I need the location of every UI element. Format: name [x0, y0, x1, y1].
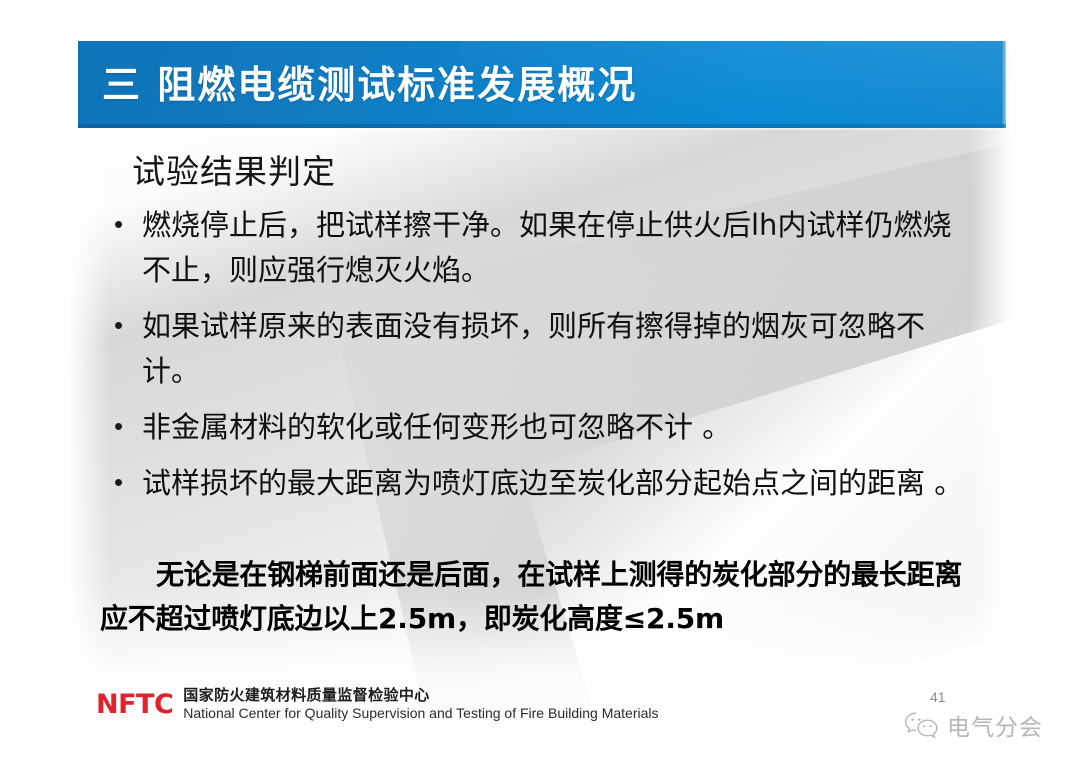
slide-title-banner: 三 阻燃电缆测试标准发展概况	[78, 41, 1006, 128]
list-item: • 非金属材料的软化或任何变形也可忽略不计 。	[108, 405, 968, 450]
section-subtitle: 试验结果判定	[132, 145, 336, 193]
bullet-marker-icon: •	[108, 405, 142, 447]
page-title: 三 阻燃电缆测试标准发展概况	[102, 54, 637, 109]
conclusion-paragraph: 无论是在钢梯前面还是后面，在试样上测得的炭化部分的最长距离应不超过喷灯底边以上2…	[100, 553, 980, 641]
list-item-label: 试样损坏的最大距离为喷灯底边至炭化部分起始点之间的距离 。	[142, 461, 968, 506]
watermark: 电气分会	[903, 708, 1043, 742]
title-banner-edge-right	[1001, 41, 1006, 128]
bullet-marker-icon: •	[108, 304, 142, 346]
footer-name-block: 国家防火建筑材料质量监督检验中心 National Center for Qua…	[183, 686, 658, 722]
bullet-list: • 燃烧停止后，把试样擦干净。如果在停止供火后lh内试样仍燃烧不止，则应强行熄灭…	[108, 203, 968, 517]
list-item-label: 燃烧停止后，把试样擦干净。如果在停止供火后lh内试样仍燃烧不止，则应强行熄灭火焰…	[142, 203, 968, 293]
watermark-label: 电气分会	[947, 708, 1043, 742]
background-fade-top	[0, 0, 1080, 46]
organization-name-cn: 国家防火建筑材料质量监督检验中心	[183, 686, 658, 704]
list-item: • 如果试样原来的表面没有损坏，则所有擦得掉的烟灰可忽略不计。	[108, 304, 968, 394]
wechat-icon	[903, 710, 943, 740]
title-banner-edge-bottom	[78, 124, 1006, 128]
page-number: 41	[930, 689, 946, 705]
organization-name-en: National Center for Quality Supervision …	[183, 704, 658, 722]
list-item-label: 如果试样原来的表面没有损坏，则所有擦得掉的烟灰可忽略不计。	[142, 304, 968, 394]
bullet-marker-icon: •	[108, 461, 142, 503]
list-item: • 燃烧停止后，把试样擦干净。如果在停止供火后lh内试样仍燃烧不止，则应强行熄灭…	[108, 203, 968, 293]
slide: 三 阻燃电缆测试标准发展概况 试验结果判定 • 燃烧停止后，把试样擦干净。如果在…	[0, 0, 1080, 771]
bullet-marker-icon: •	[108, 203, 142, 245]
list-item: • 试样损坏的最大距离为喷灯底边至炭化部分起始点之间的距离 。	[108, 461, 968, 506]
list-item-label: 非金属材料的软化或任何变形也可忽略不计 。	[142, 405, 968, 450]
nftc-logo: NFTC	[96, 689, 173, 720]
footer-organization: NFTC 国家防火建筑材料质量监督检验中心 National Center fo…	[96, 686, 658, 722]
